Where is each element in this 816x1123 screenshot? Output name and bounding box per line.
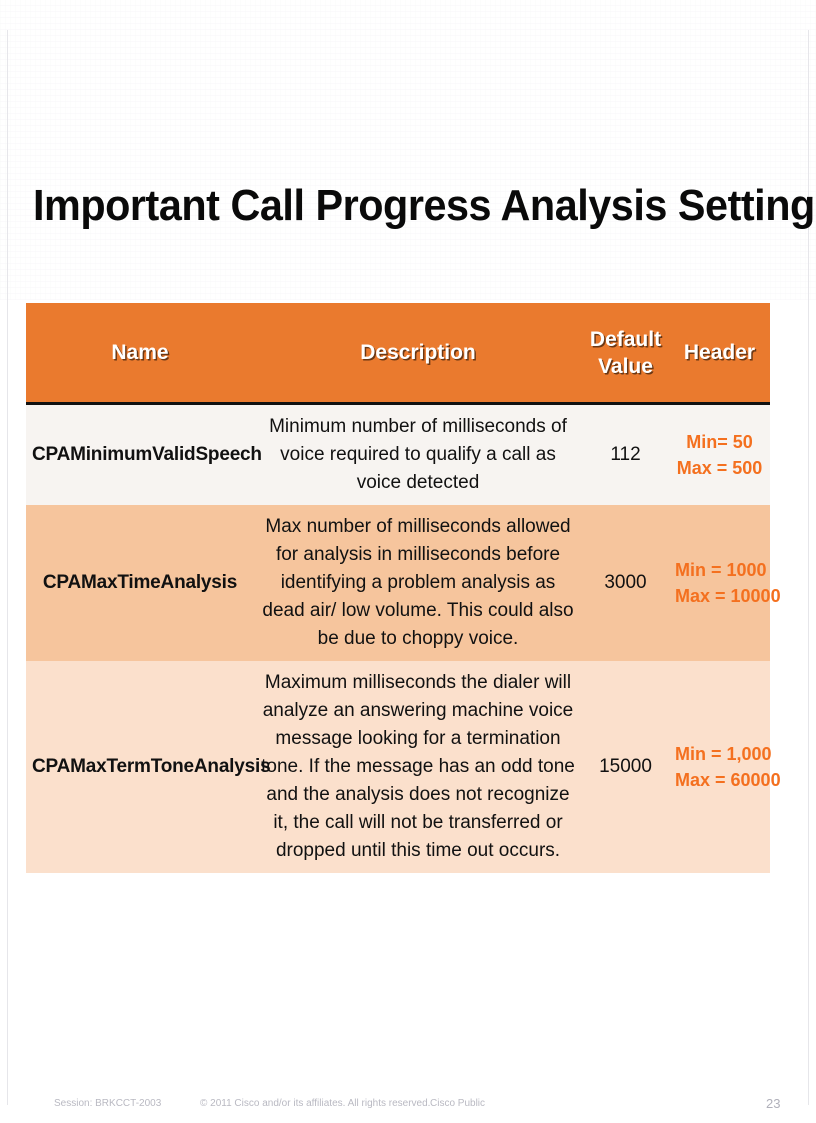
- page-title: Important Call Progress Analysis Setting…: [33, 181, 710, 231]
- table-row: CPAMinimumValidSpeech Minimum number of …: [26, 404, 770, 506]
- column-header-description: Description: [254, 303, 582, 404]
- slide-footer: Session: BRKCCT-2003 © 2011 Cisco and/or…: [0, 1093, 816, 1115]
- cell-setting-name: CPAMaxTermToneAnalysis: [26, 661, 254, 873]
- column-header-name: Name: [26, 303, 254, 404]
- column-header-default-value-line1: Default: [590, 328, 661, 351]
- column-header-default-value-line2: Value: [598, 355, 653, 378]
- table-row: CPAMaxTimeAnalysis Max number of millise…: [26, 505, 770, 661]
- cell-default-value: 15000: [582, 661, 669, 873]
- footer-session-id: Session: BRKCCT-2003: [54, 1093, 161, 1115]
- footer-page-number: 23: [766, 1093, 780, 1115]
- footer-classification: Cisco Public: [430, 1093, 485, 1115]
- range-max-value: Max = 10000: [675, 586, 781, 606]
- range-min-value: Min = 1000: [675, 560, 767, 580]
- cell-header-range: Min= 50 Max = 500: [669, 404, 770, 506]
- footer-copyright: © 2011 Cisco and/or its affiliates. All …: [200, 1093, 430, 1115]
- table-row: CPAMaxTermToneAnalysis Maximum milliseco…: [26, 661, 770, 873]
- cell-header-range: Min = 1000 Max = 10000: [669, 505, 770, 661]
- cell-setting-description: Maximum milliseconds the dialer will ana…: [254, 661, 582, 873]
- cell-header-range: Min = 1,000 Max = 60000: [669, 661, 770, 873]
- cell-setting-description: Max number of milliseconds allowed for a…: [254, 505, 582, 661]
- cpa-settings-table: Name Description Default Value Header CP…: [26, 303, 770, 873]
- cell-setting-name: CPAMinimumValidSpeech: [26, 404, 254, 506]
- slide-page: Important Call Progress Analysis Setting…: [0, 0, 816, 1123]
- range-min-value: Min= 50: [686, 432, 753, 452]
- cell-default-value: 112: [582, 404, 669, 506]
- table-header: Name Description Default Value Header: [26, 303, 770, 404]
- range-min-value: Min = 1,000: [675, 744, 772, 764]
- column-header-default-value: Default Value: [582, 303, 669, 404]
- range-max-value: Max = 60000: [675, 770, 781, 790]
- table-body: CPAMinimumValidSpeech Minimum number of …: [26, 404, 770, 874]
- column-header-header: Header: [669, 303, 770, 404]
- cell-default-value: 3000: [582, 505, 669, 661]
- table-header-row: Name Description Default Value Header: [26, 303, 770, 404]
- page-border-left: [7, 30, 8, 1105]
- cell-setting-name: CPAMaxTimeAnalysis: [26, 505, 254, 661]
- range-max-value: Max = 500: [677, 458, 763, 478]
- cell-setting-description: Minimum number of milliseconds of voice …: [254, 404, 582, 506]
- scan-noise-artifact: [0, 0, 816, 300]
